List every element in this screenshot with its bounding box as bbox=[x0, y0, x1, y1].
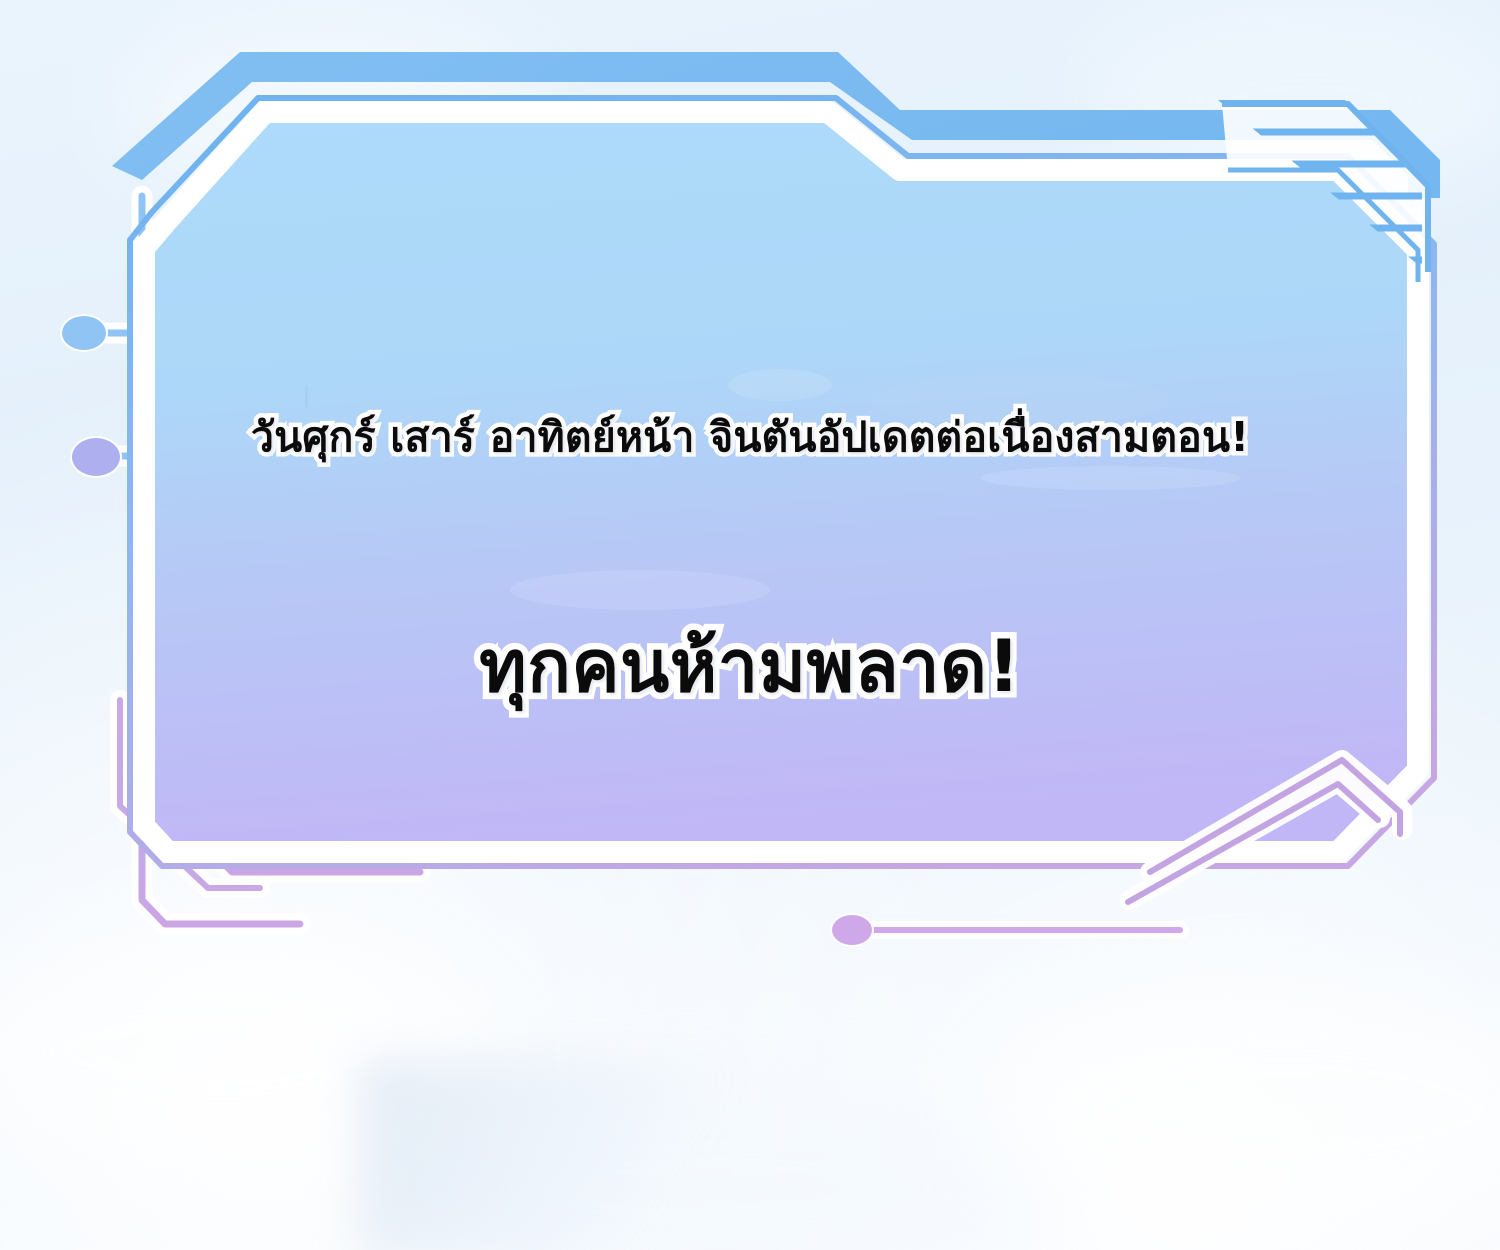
banner-canvas: วันศุกร์ เสาร์ อาทิตย์หน้า จินตันอัปเดตต… bbox=[0, 0, 1500, 1250]
bottom-circuit-node bbox=[830, 913, 1180, 947]
circuit-node-icon bbox=[832, 915, 872, 945]
circuit-node-icon bbox=[72, 438, 120, 476]
circuit-node-icon bbox=[62, 316, 106, 350]
decorative-frame bbox=[0, 0, 1500, 1250]
